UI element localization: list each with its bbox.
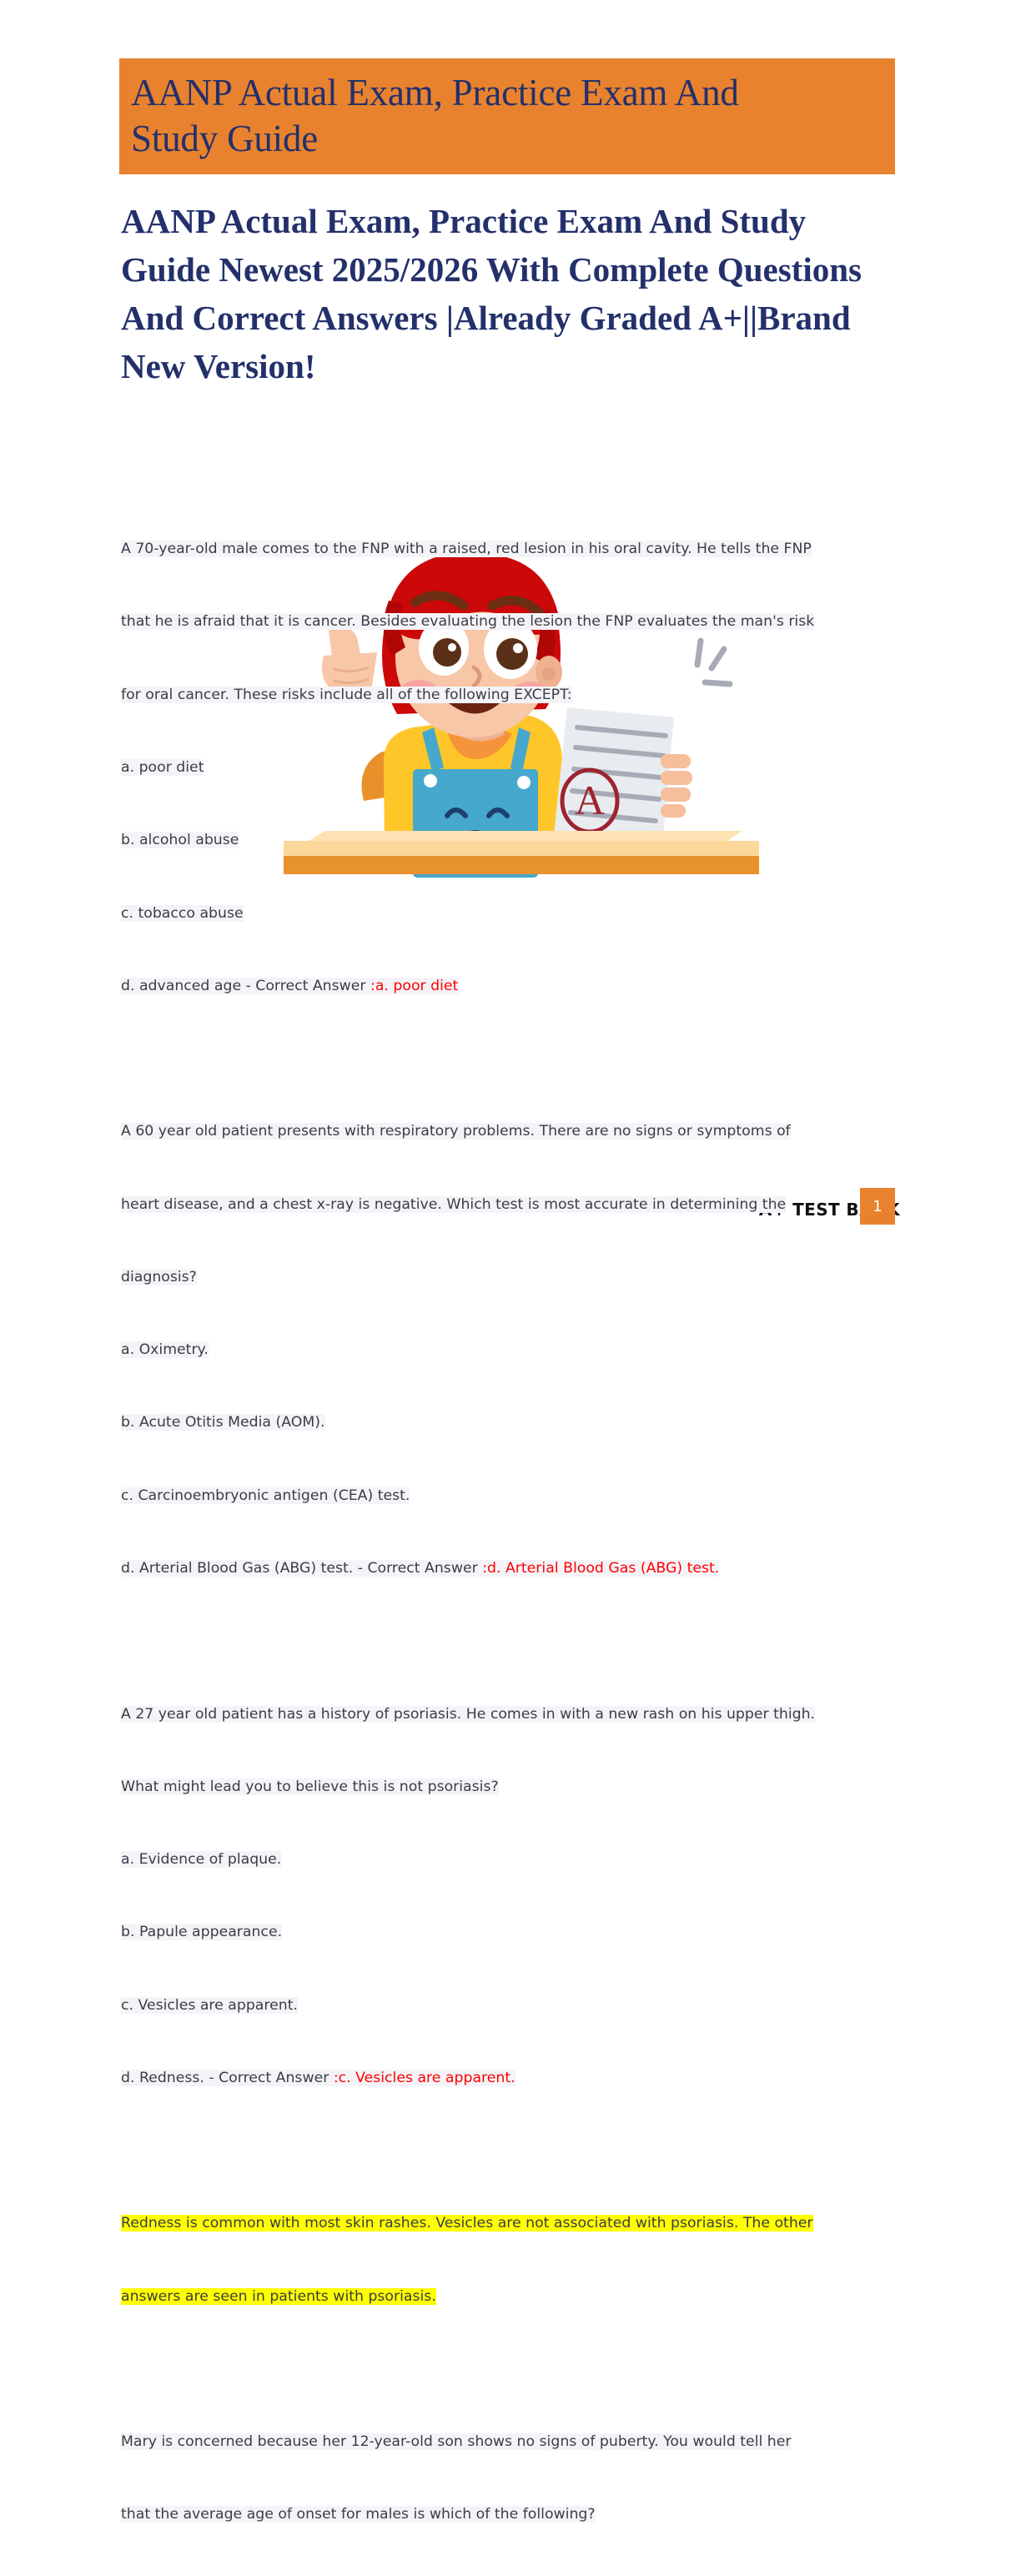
question-block-4: Mary is concerned because her 12-year-ol…: [121, 2382, 893, 2576]
header-banner: AANP Actual Exam, Practice Exam And Stud…: [119, 58, 895, 174]
paragraph-gap: [121, 1047, 893, 1071]
q2-option-b: b. Acute Otitis Media (AOM).: [121, 1414, 325, 1431]
q1-option-c: c. tobacco abuse: [121, 905, 244, 922]
explanation-line-1: answers are seen in patients with psoria…: [121, 2288, 436, 2305]
q1-line-2: for oral cancer. These risks include all…: [121, 687, 572, 703]
document-body: A 70-year-old male comes to the FNP with…: [121, 489, 893, 2576]
q3-line-1: What might lead you to believe this is n…: [121, 1779, 499, 1795]
paragraph-gap: [121, 2139, 893, 2163]
q1-option-b: b. alcohol abuse: [121, 832, 239, 848]
document-page: AANP Actual Exam, Practice Exam And Stud…: [0, 0, 1021, 1321]
q3-option-c: c. Vesicles are apparent.: [121, 1997, 298, 2014]
q3-line-0: A 27 year old patient has a history of p…: [121, 1706, 815, 1723]
q2-option-d: d. Arterial Blood Gas (ABG) test. - Corr…: [121, 1560, 482, 1577]
explanation-block: Redness is common with most skin rashes.…: [121, 2163, 893, 2357]
q2-correct-answer: :d. Arterial Blood Gas (ABG) test.: [482, 1560, 719, 1577]
q3-option-d: d. Redness. - Correct Answer: [121, 2070, 334, 2086]
question-block-1: A 70-year-old male comes to the FNP with…: [121, 489, 893, 1047]
q3-correct-answer: :c. Vesicles are apparent.: [334, 2070, 516, 2086]
header-banner-title: AANP Actual Exam, Practice Exam And Stud…: [131, 70, 880, 162]
q2-line-2: diagnosis?: [121, 1269, 197, 1285]
q1-option-a: a. poor diet: [121, 759, 204, 776]
q2-option-c: c. Carcinoembryonic antigen (CEA) test.: [121, 1487, 410, 1504]
paragraph-gap: [121, 1629, 893, 1653]
q2-line-1: heart disease, and a chest x-ray is nega…: [121, 1196, 786, 1213]
q3-option-a: a. Evidence of plaque.: [121, 1851, 281, 1868]
question-block-3: A 27 year old patient has a history of p…: [121, 1653, 893, 2139]
q4-line-0: Mary is concerned because her 12-year-ol…: [121, 2433, 791, 2450]
page-title: AANP Actual Exam, Practice Exam And Stud…: [121, 197, 893, 390]
explanation-line-0: Redness is common with most skin rashes.…: [121, 2215, 813, 2231]
q4-line-1: that the average age of onset for males …: [121, 2506, 596, 2523]
q2-line-0: A 60 year old patient presents with resp…: [121, 1123, 791, 1140]
q1-option-d: d. advanced age - Correct Answer: [121, 978, 370, 994]
question-block-2: A 60 year old patient presents with resp…: [121, 1071, 893, 1629]
q3-option-b: b. Papule appearance.: [121, 1924, 282, 1940]
q1-correct-answer: :a. poor diet: [370, 978, 458, 994]
q1-line-0: A 70-year-old male comes to the FNP with…: [121, 541, 812, 557]
q2-option-a: a. Oximetry.: [121, 1341, 209, 1358]
paragraph-gap: [121, 2357, 893, 2382]
q1-line-1: that he is afraid that it is cancer. Bes…: [121, 613, 814, 630]
